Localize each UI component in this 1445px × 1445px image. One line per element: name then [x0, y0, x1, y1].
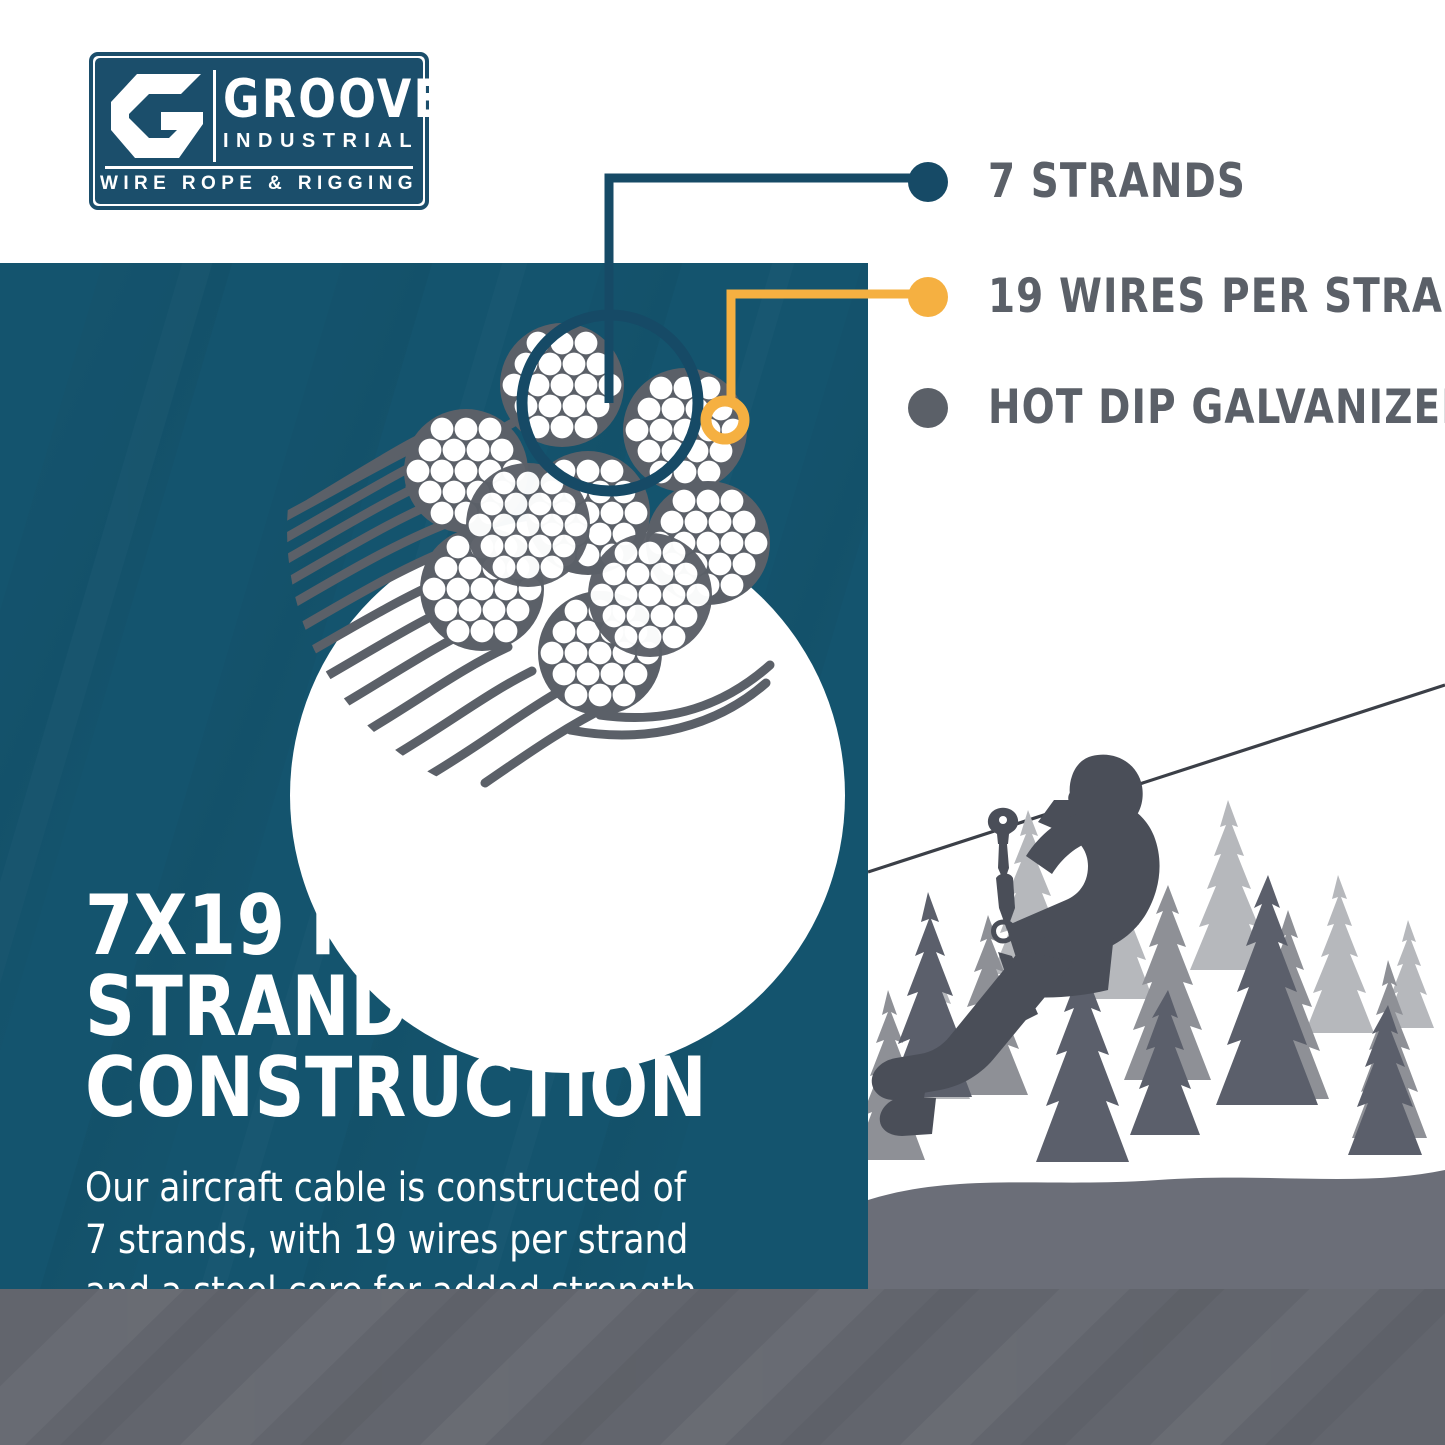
callout-dot-galvanized [908, 388, 948, 428]
callout-19-wires[interactable]: 19 WIRES PER STRAND [908, 273, 1445, 320]
headline-line-2: STRAND CONSTRUCTION [85, 966, 773, 1128]
page-title: 7X19 FLEXIBLE STRAND CONSTRUCTION [85, 885, 773, 1128]
connector-line-wires [731, 294, 912, 398]
headline-block: 7X19 FLEXIBLE STRAND CONSTRUCTION Our ai… [85, 885, 825, 1318]
zipline-scene [868, 660, 1445, 1290]
callout-7-strands[interactable]: 7 STRANDS [908, 158, 1268, 205]
infographic-canvas: GROOVE INDUSTRIAL WIRE ROPE & RIGGING [0, 0, 1445, 1445]
callout-label-wires: 19 WIRES PER STRAND [988, 273, 1445, 320]
callout-dot-strands [908, 162, 948, 202]
footer-band [0, 1289, 1445, 1445]
callout-label-strands: 7 STRANDS [988, 158, 1246, 205]
callout-dot-wires [908, 277, 948, 317]
footer-stripe-texture [0, 1289, 1445, 1445]
forest-ground [868, 1170, 1445, 1290]
callout-label-galvanized: HOT DIP GALVANIZED [988, 384, 1445, 431]
callout-hot-dip-galvanized[interactable]: HOT DIP GALVANIZED [908, 384, 1445, 431]
